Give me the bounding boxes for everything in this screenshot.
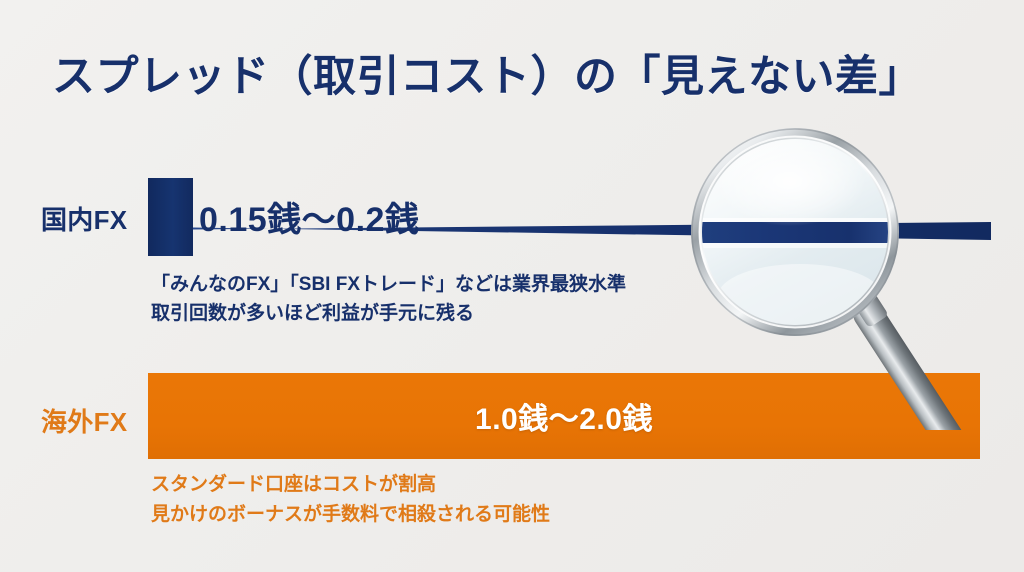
notes-domestic: 「みんなのFX」「SBI FXトレード」などは業界最狭水準 取引回数が多いほど利… xyxy=(151,270,626,328)
note-domestic-line-1: 「みんなのFX」「SBI FXトレード」などは業界最狭水準 xyxy=(151,270,626,299)
slide-canvas: スプレッド（取引コスト）の「見えない差」 国内FX 0.15銭〜0.2銭 「みん… xyxy=(0,0,1024,572)
value-overseas-fx: 1.0銭〜2.0銭 xyxy=(148,373,980,459)
note-overseas-line-2: 見かけのボーナスが手数料で相殺される可能性 xyxy=(151,500,550,530)
row-label-domestic: 国内FX xyxy=(41,200,127,237)
value-domestic-fx: 0.15銭〜0.2銭 xyxy=(199,192,419,241)
notes-overseas: スタンダード口座はコストが割高 見かけのボーナスが手数料で相殺される可能性 xyxy=(151,470,550,530)
note-domestic-line-2: 取引回数が多いほど利益が手元に残る xyxy=(151,299,626,328)
note-overseas-line-1: スタンダード口座はコストが割高 xyxy=(151,470,550,500)
page-title: スプレッド（取引コスト）の「見えない差」 xyxy=(52,42,922,104)
bar-domestic-fx xyxy=(148,178,193,256)
row-label-overseas: 海外FX xyxy=(41,402,127,439)
